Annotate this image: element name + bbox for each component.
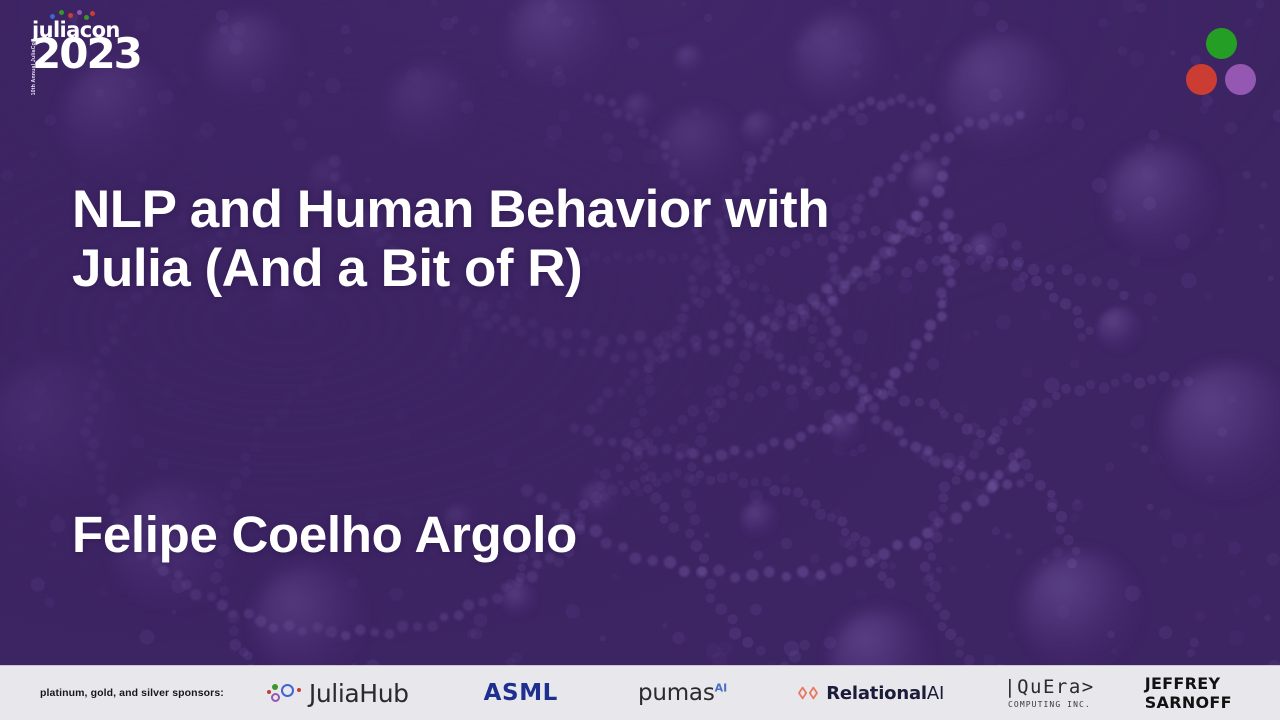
relationalai-wordmark: RelationalAI: [826, 683, 944, 704]
juliacon-logo-dot-1: [59, 10, 64, 15]
quera-subtitle: COMPUTING INC.: [1004, 701, 1095, 709]
sponsor-logo-relationalai[interactable]: RelationalAI: [797, 666, 944, 720]
juliacon-logo-dot-3: [77, 10, 82, 15]
talk-title-line-2: Julia (And a Bit of R): [72, 239, 1032, 298]
pumas-ai-superscript: AI: [715, 681, 728, 694]
pumas-wordmark: pumasAI: [638, 680, 727, 706]
relationalai-ai-suffix: AI: [927, 683, 944, 704]
sponsor-logo-pumas-ai[interactable]: pumasAI: [638, 666, 727, 720]
asml-wordmark: ASML: [484, 680, 558, 706]
relationalai-wordmark-text: Relational: [826, 683, 927, 704]
sponsor-bar: platinum, gold, and silver sponsors: Jul…: [0, 665, 1280, 720]
talk-title: NLP and Human Behavior with Julia (And a…: [72, 180, 1032, 299]
juliahub-dots-icon: [267, 681, 303, 705]
juliahub-wordmark: JuliaHub: [309, 679, 409, 708]
sponsor-logo-asml[interactable]: ASML: [484, 666, 558, 720]
sphere-pattern-background: [0, 0, 1280, 720]
juliacon-title-slide: juliacon 2023 10th Annual JuliaCon NLP a…: [0, 0, 1280, 720]
relationalai-x-icon: [797, 684, 819, 702]
juliacon-vertical-caption: 10th Annual JuliaCon: [31, 35, 37, 99]
juliacon-logo-dot-5: [90, 11, 95, 16]
julia-logo-dots: [1184, 28, 1256, 100]
speaker-name: Felipe Coelho Argolo: [72, 505, 577, 564]
julia-dot-red-icon: [1186, 64, 1217, 95]
sponsor-logo-quera[interactable]: |QuEra> COMPUTING INC.: [1004, 666, 1095, 720]
pumas-wordmark-text: pumas: [638, 680, 715, 706]
julia-dot-green-icon: [1206, 28, 1237, 59]
juliacon-year: 2023: [32, 38, 141, 69]
sponsor-logo-juliahub[interactable]: JuliaHub: [267, 666, 409, 720]
talk-title-line-1: NLP and Human Behavior with: [72, 180, 1032, 239]
juliacon-logo: juliacon 2023 10th Annual JuliaCon: [20, 8, 130, 113]
quera-wordmark: |QuEra>: [1004, 678, 1095, 697]
sponsor-bar-label: platinum, gold, and silver sponsors:: [40, 687, 224, 699]
julia-dot-purple-icon: [1225, 64, 1256, 95]
jeffrey-sarnoff-wordmark: JEFFREY SARNOFF: [1145, 674, 1280, 712]
slide-content: NLP and Human Behavior with Julia (And a…: [72, 180, 1072, 299]
sponsor-logo-jeffrey-sarnoff[interactable]: JEFFREY SARNOFF: [1145, 666, 1280, 720]
